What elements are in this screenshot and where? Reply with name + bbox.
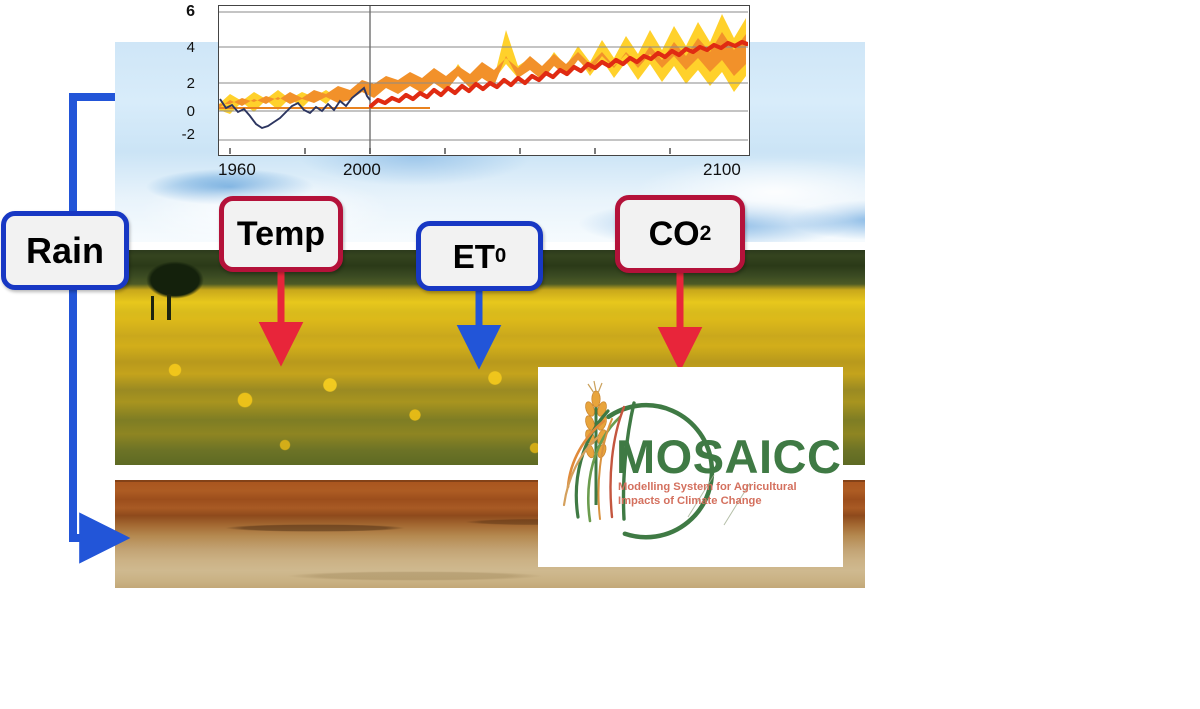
mosaicc-logo-card: MOSAICC Modelling System for Agricultura… (538, 367, 843, 567)
label-box-co2[interactable]: CO2 (615, 195, 745, 273)
chart-xticks (230, 148, 670, 154)
logo-wordmark: MOSAICC (616, 429, 841, 484)
tree-trunk-shape (167, 294, 171, 320)
label-box-rain[interactable]: Rain (1, 211, 129, 290)
label-et0-base: ET (453, 240, 495, 273)
label-temp-text: Temp (237, 217, 325, 251)
label-rain-text: Rain (26, 233, 104, 269)
label-box-et0[interactable]: ET0 (416, 221, 543, 291)
label-et0-subscript: 0 (495, 246, 506, 266)
tree-shape (135, 256, 215, 312)
chart-series-svg (190, 0, 760, 178)
climate-projection-chart: 6 4 2 0 -2 1960 2000 2100 (190, 0, 760, 178)
label-co2-base: CO (649, 217, 700, 251)
logo-tagline: Modelling System for Agricultural Impact… (618, 480, 833, 508)
rain-connector-arrow (73, 97, 115, 538)
diagram-stage: 6 4 2 0 -2 1960 2000 2100 (0, 0, 1200, 709)
label-co2-subscript: 2 (700, 223, 712, 244)
label-box-temp[interactable]: Temp (219, 196, 343, 272)
tree-trunk-secondary-shape (151, 296, 154, 320)
